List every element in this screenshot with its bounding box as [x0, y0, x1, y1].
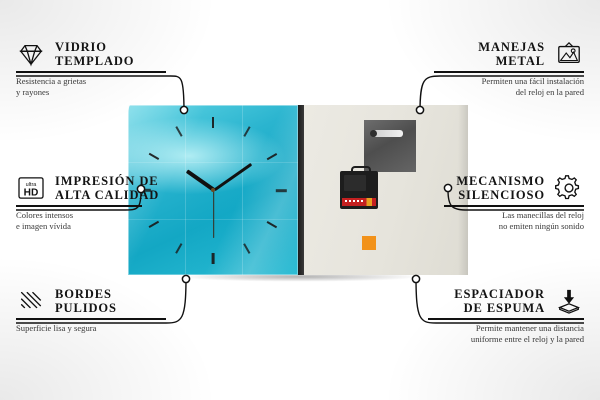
- ultra-hd-icon: ultra HD: [16, 176, 46, 200]
- hanger-slot: [373, 130, 403, 137]
- callout-desc-line1: Resistencia a grietas: [16, 76, 166, 87]
- callout-rule: [16, 318, 166, 320]
- callout-title-line2: PULIDOS: [55, 301, 117, 315]
- diamond-icon: [16, 41, 46, 67]
- second-hand: [213, 190, 214, 238]
- callout-bordes-pulidos[interactable]: BORDES PULIDOS Superficie lisa y segura: [16, 287, 166, 334]
- callout-desc-line2: del reloj en la pared: [434, 87, 584, 98]
- callout-title-line2: METAL: [478, 54, 545, 68]
- callout-title-line2: SILENCIOSO: [456, 188, 545, 202]
- battery-label: [345, 200, 365, 202]
- callout-title-line1: MANEJAS: [478, 40, 545, 54]
- callout-title-line2: TEMPLADO: [55, 54, 134, 68]
- callout-vidrio-templado[interactable]: VIDRIO TEMPLADO Resistencia a grietas y …: [16, 40, 166, 98]
- clock-mechanism: [340, 171, 378, 209]
- hanger-hole: [370, 130, 377, 137]
- callout-desc-line1: Permiten una fácil instalación: [434, 76, 584, 87]
- clock-tick: [212, 117, 215, 128]
- callout-title-line2: ALTA CALIDAD: [55, 188, 159, 202]
- callout-impresion-alta-calidad[interactable]: ultra HD IMPRESIÓN DE ALTA CALIDAD Color…: [16, 174, 142, 232]
- clock-tick: [275, 189, 286, 192]
- gear-icon: [554, 175, 584, 201]
- callout-desc-line1: Superficie lisa y segura: [16, 323, 166, 334]
- callout-rule: [16, 71, 166, 73]
- foam-spacer: [362, 236, 376, 250]
- picture-hanger-icon: [554, 41, 584, 67]
- battery: [342, 198, 376, 206]
- callout-mecanismo-silencioso[interactable]: MECANISMO SILENCIOSO Las manecillas del …: [444, 174, 584, 232]
- callout-rule: [428, 318, 584, 320]
- callout-desc-line2: e imagen vívida: [16, 221, 142, 232]
- callout-manejas-metal[interactable]: MANEJAS METAL Permiten una fácil instala…: [434, 40, 584, 98]
- callout-desc-line1: Las manecillas del reloj: [444, 210, 584, 221]
- mechanism-shaft: [351, 166, 371, 175]
- callout-title-line2: DE ESPUMA: [454, 301, 545, 315]
- foam-spacer-icon: [554, 288, 584, 314]
- callout-desc-line1: Permite mantener una distancia: [428, 323, 584, 334]
- callout-title-line1: IMPRESIÓN DE: [55, 174, 159, 188]
- callout-desc-line2: no emiten ningún sonido: [444, 221, 584, 232]
- callout-desc-line2: uniforme entre el reloj y la pared: [428, 334, 584, 345]
- callout-rule: [444, 205, 584, 207]
- clock-tick: [212, 253, 215, 264]
- infographic-canvas: VIDRIO TEMPLADO Resistencia a grietas y …: [0, 0, 600, 400]
- product-image: [128, 105, 468, 275]
- mechanism-body: [344, 175, 366, 191]
- callout-rule: [16, 205, 142, 207]
- callout-title-line1: VIDRIO: [55, 40, 134, 54]
- callout-title-line1: MECANISMO: [456, 174, 545, 188]
- callout-desc-line1: Colores intensos: [16, 210, 142, 221]
- callout-title-line1: BORDES: [55, 287, 117, 301]
- callout-desc-line2: y rayones: [16, 87, 166, 98]
- callout-rule: [434, 71, 584, 73]
- metal-hanger-plate: [364, 120, 416, 172]
- callout-title-line1: ESPACIADOR: [454, 287, 545, 301]
- clock-center-pivot: [211, 188, 215, 192]
- svg-text:HD: HD: [24, 187, 39, 198]
- polished-edges-icon: [16, 288, 46, 314]
- callout-espaciador-espuma[interactable]: ESPACIADOR DE ESPUMA Permite mantener un…: [428, 287, 584, 345]
